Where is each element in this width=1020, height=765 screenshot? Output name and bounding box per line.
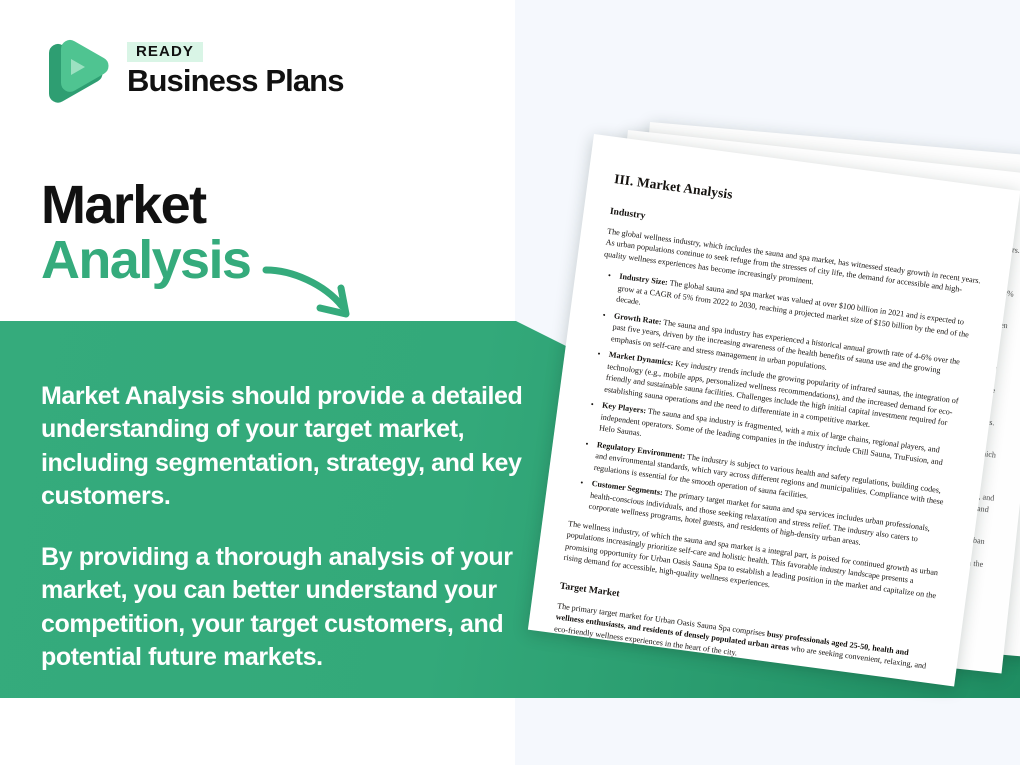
headline-line-2: Analysis	[41, 233, 250, 288]
callout-text-block: Market Analysis should provide a detaile…	[41, 355, 561, 699]
document-body: III. Market Analysis Industry The global…	[528, 134, 1020, 686]
brand-lockup[interactable]: READY Business Plans	[41, 33, 344, 105]
callout-paragraph-1: Market Analysis should provide a detaile…	[41, 380, 561, 513]
brand-name: Business Plans	[127, 65, 344, 98]
page-title: Market Analysis	[41, 178, 250, 288]
brand-text: READY Business Plans	[127, 40, 344, 98]
headline-line-1: Market	[41, 178, 250, 233]
slide-canvas: READY Business Plans Market Analysis Mar…	[0, 0, 1020, 765]
document-bullet-list: Industry Size: The global sauna and spa …	[570, 269, 977, 560]
ready-badge: READY	[127, 42, 203, 62]
document-page-front[interactable]: III. Market Analysis Industry The global…	[528, 134, 1020, 686]
curved-arrow-down-right-icon	[262, 262, 372, 324]
double-play-triangle-logo	[41, 33, 113, 105]
callout-paragraph-2: By providing a thorough analysis of your…	[41, 541, 561, 674]
document-title: III. Market Analysis	[613, 171, 990, 237]
